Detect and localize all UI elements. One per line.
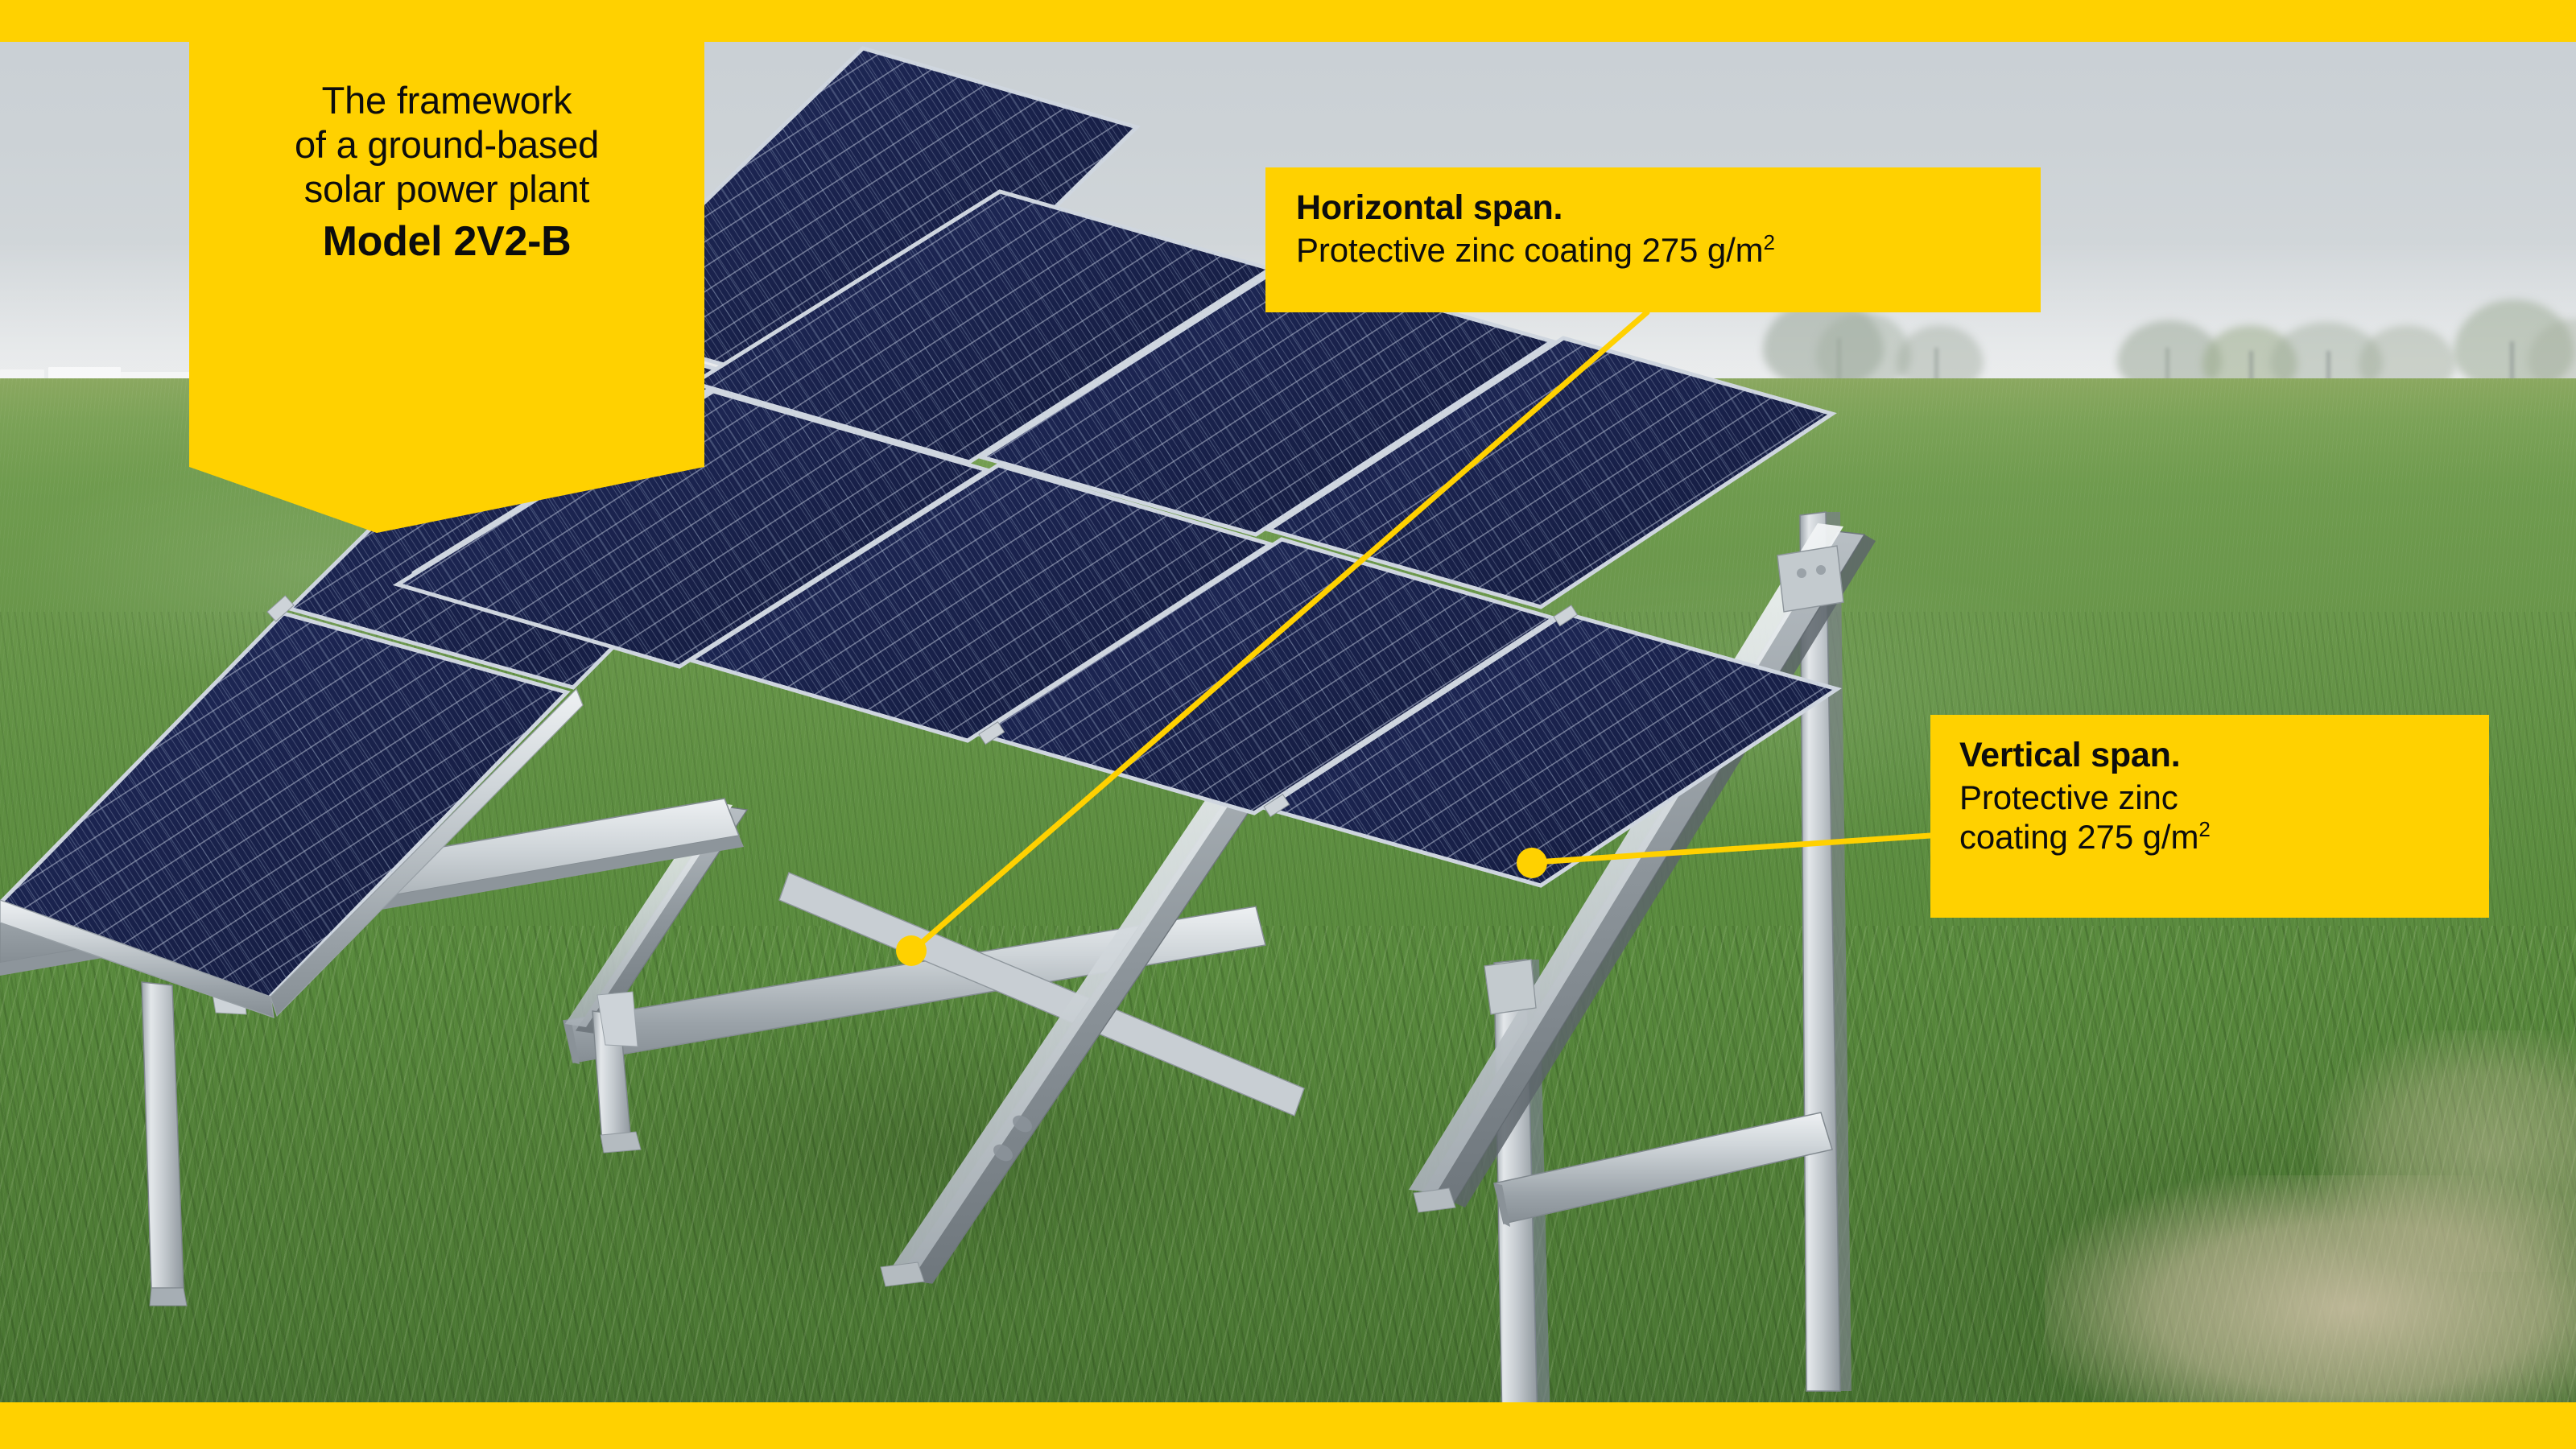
bolt bbox=[1816, 565, 1826, 575]
callout-horizontal-body-superscript: 2 bbox=[1764, 230, 1775, 254]
top-mount-bracket bbox=[1777, 546, 1843, 612]
bolt bbox=[1797, 568, 1806, 578]
title-card: The framework of a ground-based solar po… bbox=[189, 0, 704, 266]
mid-mount-bracket bbox=[1484, 960, 1536, 1014]
callout-horizontal-title: Horizontal span. bbox=[1296, 188, 2041, 227]
title-line-1: The framework bbox=[217, 79, 677, 123]
bottom-accent-bar bbox=[0, 1402, 2576, 1449]
title-model: Model 2V2-B bbox=[217, 217, 677, 266]
foot-plates bbox=[601, 1132, 1455, 1286]
callout-vertical-title: Vertical span. bbox=[1959, 736, 2489, 774]
front-leg-far-left bbox=[142, 982, 184, 1288]
lower-cross-beam-right bbox=[1494, 1113, 1832, 1224]
title-line-2: of a ground-based bbox=[217, 123, 677, 167]
callout-horizontal-body-text: Protective zinc coating 275 g/m bbox=[1296, 231, 1764, 269]
front-leg-far-left-foot bbox=[150, 1288, 187, 1306]
callout-vertical-body-line1: Protective zinc bbox=[1959, 778, 2489, 817]
callout-vertical-body-superscript: 2 bbox=[2198, 817, 2210, 841]
title-card-text: The framework of a ground-based solar po… bbox=[189, 0, 704, 266]
callout-horizontal-span: Horizontal span. Protective zinc coating… bbox=[1265, 167, 2041, 312]
title-line-3: solar power plant bbox=[217, 167, 677, 212]
callout-vertical-body-text: coating 275 g/m bbox=[1959, 818, 2198, 856]
callout-horizontal-body: Protective zinc coating 275 g/m2 bbox=[1296, 230, 2041, 270]
callout-vertical-body-line2: coating 275 g/m2 bbox=[1959, 817, 2489, 857]
infographic-canvas: The framework of a ground-based solar po… bbox=[0, 0, 2576, 1449]
callout-vertical-span: Vertical span. Protective zinc coating 2… bbox=[1930, 715, 2489, 918]
